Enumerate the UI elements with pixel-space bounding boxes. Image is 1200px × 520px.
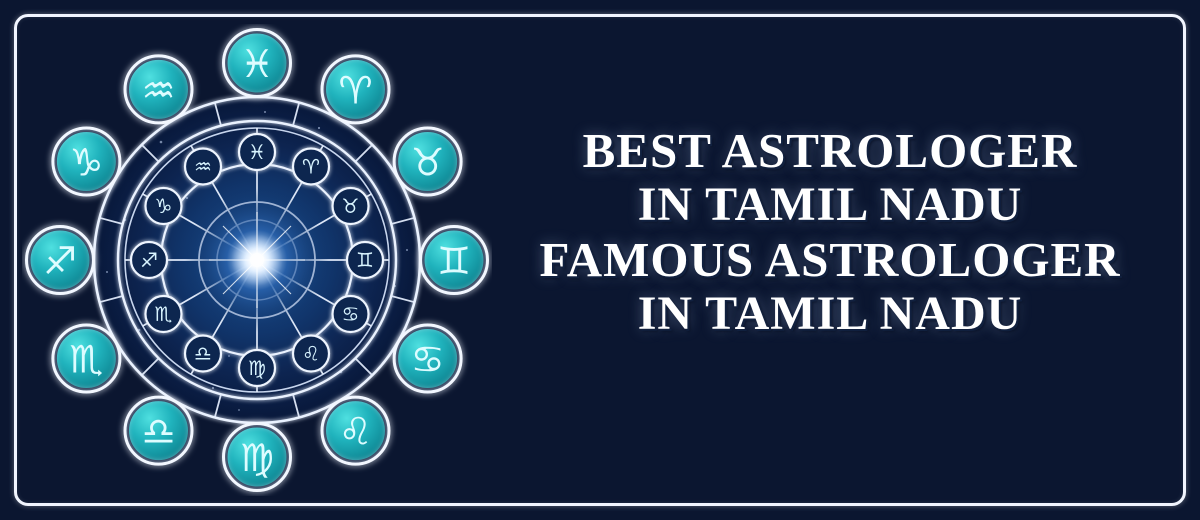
inner-sign-glyph: ♒ [194,154,212,178]
leo-icon[interactable]: ♌ [322,397,389,464]
inner-sign-glyph: ♍ [248,356,266,380]
capricorn-icon: ♑ [145,188,181,224]
outer-sign-glyph: ♍ [240,436,274,480]
astrology-banner: ♓♈♉♊♋♌♍♎♏♐♑♒ ♓♈♉♊♋♌♍♎♏♐♑♒ BEST ASTROLOGE… [0,0,1200,520]
inner-sign-glyph: ♏ [155,302,173,326]
sagittarius-icon[interactable]: ♐ [27,227,94,294]
outer-sign-glyph: ♒ [141,68,175,112]
headline-line-1: BEST ASTROLOGER [480,126,1180,175]
outer-sign-glyph: ♎ [141,410,175,454]
aquarius-icon[interactable]: ♒ [125,56,192,123]
scorpio-icon: ♏ [145,296,181,332]
inner-sign-glyph: ♉ [342,194,360,218]
aquarius-icon: ♒ [185,148,221,184]
libra-icon[interactable]: ♎ [125,397,192,464]
taurus-icon: ♉ [333,188,369,224]
center-starburst [209,212,305,308]
gemini-icon[interactable]: ♊ [421,227,488,294]
zodiac-wheel-graphic: ♓♈♉♊♋♌♍♎♏♐♑♒ ♓♈♉♊♋♌♍♎♏♐♑♒ [22,24,492,496]
outer-sign-glyph: ♏ [69,338,103,382]
capricorn-icon[interactable]: ♑ [53,128,120,195]
cancer-icon[interactable]: ♋ [394,325,461,392]
headline-block: BEST ASTROLOGER IN TAMIL NADU FAMOUS AST… [480,126,1180,344]
outer-sign-glyph: ♈ [338,68,372,112]
virgo-icon: ♍ [239,350,275,386]
pisces-icon: ♓ [239,134,275,170]
inner-sign-glyph: ♊ [356,248,374,272]
inner-sign-glyph: ♓ [248,140,266,164]
libra-icon: ♎ [185,336,221,372]
outer-sign-glyph: ♓ [240,42,274,86]
outer-sign-glyph: ♌ [338,410,372,454]
aries-icon: ♈ [293,148,329,184]
zodiac-wheel: ♓♈♉♊♋♌♍♎♏♐♑♒ ♓♈♉♊♋♌♍♎♏♐♑♒ [22,24,492,496]
scorpio-icon[interactable]: ♏ [53,325,120,392]
outer-sign-glyph: ♋ [411,338,445,382]
taurus-icon[interactable]: ♉ [394,128,461,195]
inner-sign-glyph: ♑ [155,194,173,218]
headline-line-2: IN TAMIL NADU [480,181,1180,229]
headline-line-4: IN TAMIL NADU [480,290,1180,338]
outer-sign-glyph: ♉ [411,141,445,185]
inner-sign-glyph: ♎ [194,342,212,366]
inner-sign-glyph: ♈ [302,154,320,178]
outer-sign-glyph: ♑ [69,141,103,185]
virgo-icon[interactable]: ♍ [224,424,291,491]
pisces-icon[interactable]: ♓ [224,30,291,97]
aries-icon[interactable]: ♈ [322,56,389,123]
outer-sign-glyph: ♐ [43,239,77,283]
cancer-icon: ♋ [333,296,369,332]
inner-sign-glyph: ♌ [302,342,320,366]
inner-sign-glyph: ♋ [342,302,360,326]
leo-icon: ♌ [293,336,329,372]
sagittarius-icon: ♐ [131,242,167,278]
outer-sign-glyph: ♊ [437,239,471,283]
headline-line-3: FAMOUS ASTROLOGER [480,235,1180,284]
gemini-icon: ♊ [347,242,383,278]
inner-sign-glyph: ♐ [140,248,158,272]
